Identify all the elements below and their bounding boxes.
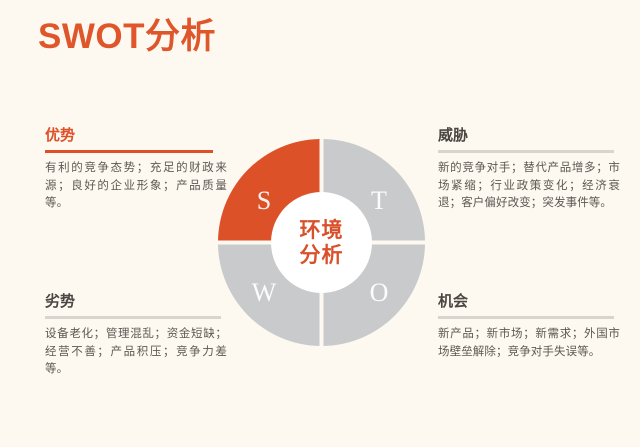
donut-letter-t: T	[371, 186, 387, 215]
quadrant-weaknesses-body: 设备老化；管理混乱；资金短缺；经营不善；产品积压；竞争力差等。	[45, 326, 227, 379]
quadrant-strengths-rule	[45, 150, 213, 153]
donut-letter-o: O	[370, 278, 389, 307]
quadrant-threats-rule	[438, 150, 614, 153]
donut-center-line-1: 环境	[300, 218, 344, 243]
quadrant-threats: 威胁 新的竞争对手；替代产品增多；市场紧缩；行业政策变化；经济衰退；客户偏好改变…	[438, 126, 620, 213]
page-title: SWOT分析	[38, 14, 216, 60]
quadrant-weaknesses-rule	[45, 316, 221, 319]
quadrant-opportunities-heading: 机会	[438, 292, 620, 311]
quadrant-weaknesses-heading: 劣势	[45, 292, 227, 311]
quadrant-strengths-heading: 优势	[45, 126, 227, 145]
quadrant-threats-heading: 威胁	[438, 126, 620, 145]
quadrant-threats-body: 新的竞争对手；替代产品增多；市场紧缩；行业政策变化；经济衰退；客户偏好改变；突发…	[438, 160, 620, 213]
quadrant-strengths-body: 有利的竞争态势；充足的财政来源；良好的企业形象；产品质量等。	[45, 160, 227, 213]
donut-center-line-2: 分析	[300, 243, 344, 268]
quadrant-opportunities: 机会 新产品；新市场；新需求；外国市场壁垒解除；竞争对手失误等。	[438, 292, 620, 361]
quadrant-weaknesses: 劣势 设备老化；管理混乱；资金短缺；经营不善；产品积压；竞争力差等。	[45, 292, 227, 379]
donut-center-label: 环境 分析	[271, 192, 372, 293]
quadrant-opportunities-body: 新产品；新市场；新需求；外国市场壁垒解除；竞争对手失误等。	[438, 326, 620, 361]
donut-letter-s: S	[257, 186, 271, 215]
quadrant-opportunities-rule	[438, 316, 614, 319]
donut-letter-w: W	[252, 278, 277, 307]
quadrant-strengths: 优势 有利的竞争态势；充足的财政来源；良好的企业形象；产品质量等。	[45, 126, 227, 213]
swot-donut-chart: S T W O 环境 分析	[218, 139, 425, 346]
